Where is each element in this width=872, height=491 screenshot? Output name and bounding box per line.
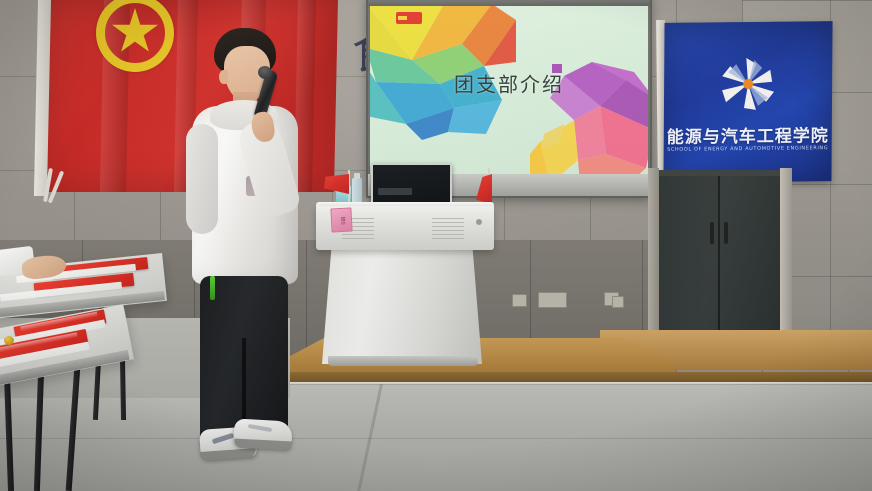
- department-banner: 能源与汽车工程学院 SCHOOL OF ENERGY AND AUTOMOTIV…: [663, 21, 832, 183]
- lectern-base: [322, 246, 482, 364]
- presenter-left-arm: [186, 124, 218, 234]
- banner-chinese-text: 能源与汽车工程学院: [667, 121, 829, 148]
- presenter: [186, 28, 304, 470]
- lectern-button[interactable]: [476, 219, 482, 225]
- slide-title: 团支部介绍: [454, 69, 564, 98]
- floor-tile-lines: [0, 384, 872, 491]
- door-handle-right[interactable]: [724, 222, 728, 244]
- pink-label-text: 5班: [337, 208, 347, 227]
- pants-green-stripe: [210, 276, 215, 300]
- lectern-foot: [328, 356, 478, 366]
- star-in-circle-emblem: [96, 0, 174, 72]
- door-split-line: [718, 176, 720, 354]
- bottle-cap: [354, 173, 360, 179]
- power-outlet-1[interactable]: [512, 294, 527, 307]
- banner-english-text: SCHOOL OF ENERGY AND AUTOMOTIVE ENGINEER…: [667, 145, 828, 153]
- laptop-screen-glow: [378, 188, 412, 195]
- slide-canvas: 团支部介绍: [370, 6, 648, 174]
- water-bottle: [352, 178, 362, 204]
- pinwheel-logo: [716, 52, 780, 117]
- presentation-scene: 食: [0, 0, 872, 491]
- lectern-vent-right: [432, 218, 464, 242]
- presenter-ear: [219, 70, 228, 84]
- gold-medal-badge: [4, 336, 14, 345]
- door-handle-left[interactable]: [710, 222, 714, 244]
- pink-label-sticker: 5班: [330, 207, 352, 232]
- power-outlet-4[interactable]: [612, 296, 624, 308]
- power-outlet-2[interactable]: [538, 292, 567, 308]
